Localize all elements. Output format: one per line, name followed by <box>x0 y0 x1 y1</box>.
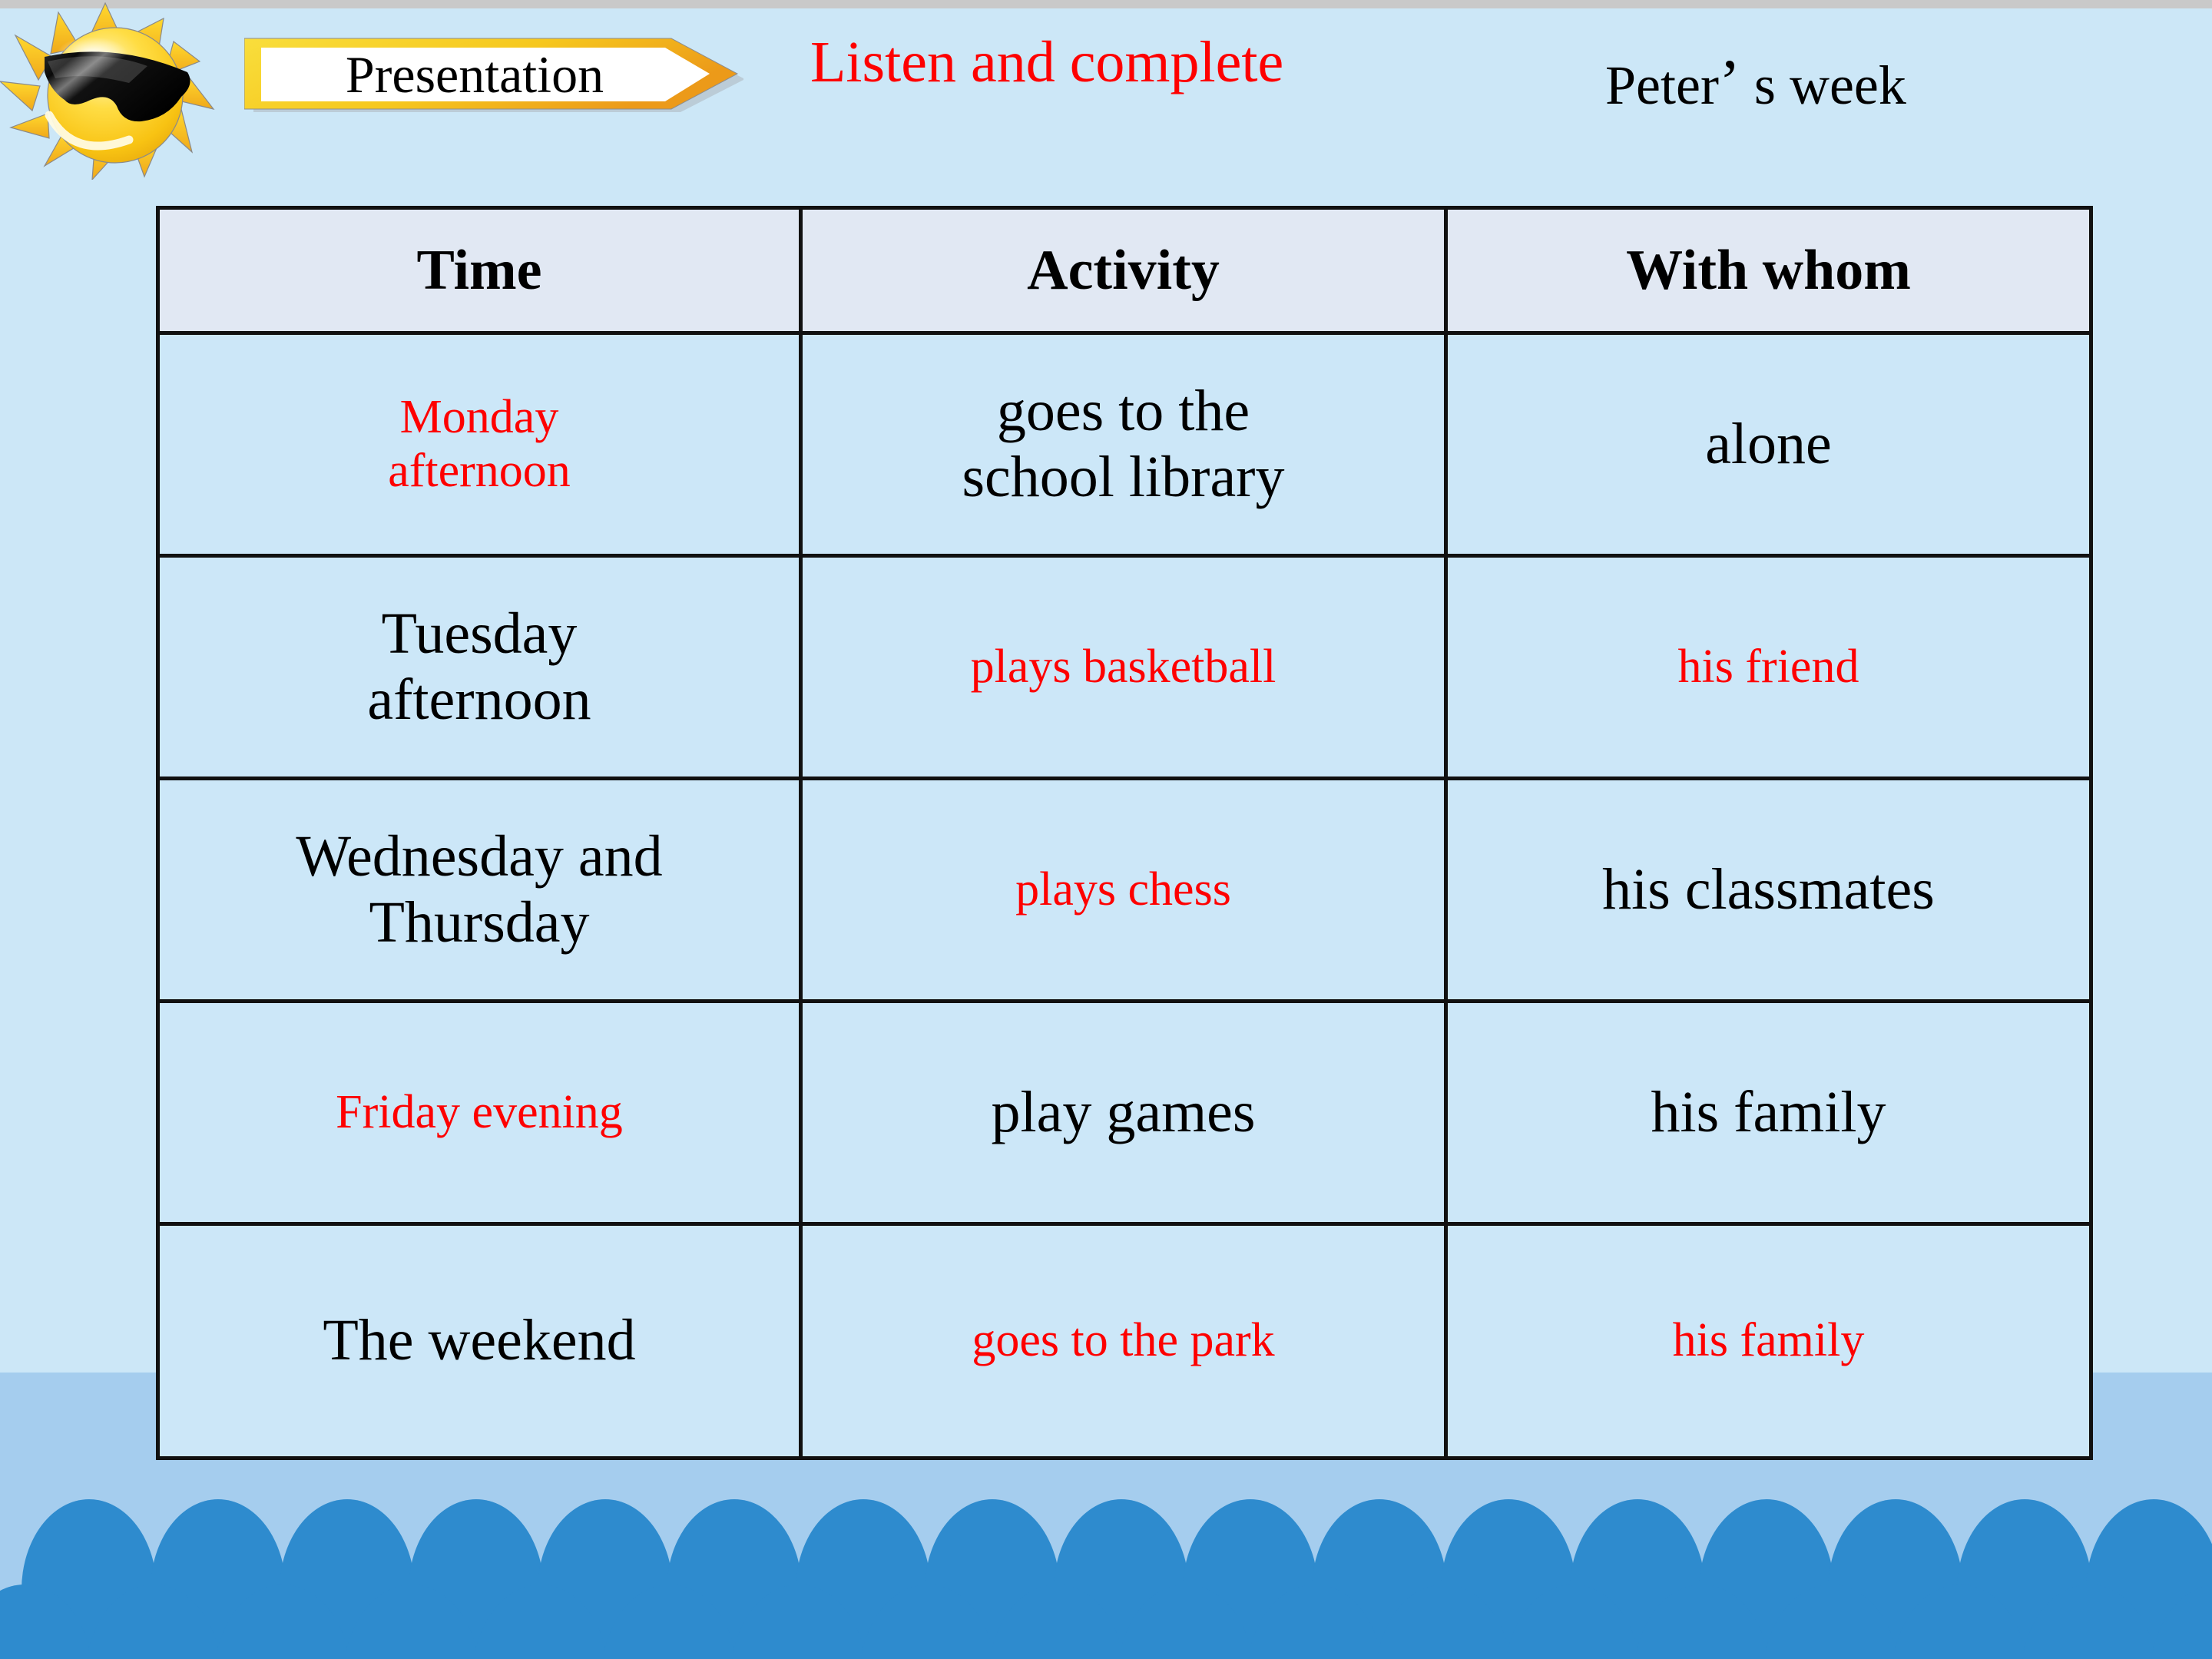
cell-text: his friend <box>1455 641 2081 694</box>
table-header-row: Time Activity With whom <box>158 208 2091 333</box>
cell-with-whom: alone <box>1446 333 2091 556</box>
arch-shape <box>1634 1584 1770 1659</box>
cell-activity: plays chess <box>801 779 1446 1002</box>
cell-with-whom: his friend <box>1446 556 2091 779</box>
column-header-activity: Activity <box>801 208 1446 333</box>
cell-activity: goes to the park <box>801 1224 1446 1459</box>
arch-shape <box>1247 1584 1382 1659</box>
cell-time: Mondayafternoon <box>158 333 801 556</box>
cell-time: Friday evening <box>158 1002 801 1224</box>
cell-text: The weekend <box>167 1308 791 1373</box>
cell-with-whom: his family <box>1446 1224 2091 1459</box>
arch-decoration-row-front <box>0 1584 2212 1659</box>
stage-label: Presentation <box>244 37 705 112</box>
arch-shape <box>1118 1584 1253 1659</box>
arch-shape <box>215 1584 350 1659</box>
arch-shape <box>2022 1584 2157 1659</box>
arch-shape <box>731 1584 866 1659</box>
cell-text: Wednesday andThursday <box>167 824 791 955</box>
cell-text: his classmates <box>1455 857 2081 922</box>
table-row: Tuesdayafternoonplays basketballhis frie… <box>158 556 2091 779</box>
table-row: Friday eveningplay gameshis family <box>158 1002 2091 1224</box>
arch-shape <box>2151 1584 2212 1659</box>
arch-shape <box>1505 1584 1641 1659</box>
cell-with-whom: his family <box>1446 1002 2091 1224</box>
slide-canvas: Presentation Listen and complete Peter’ … <box>0 0 2212 1659</box>
table-row: The weekendgoes to the parkhis family <box>158 1224 2091 1459</box>
cell-text: plays basketball <box>810 641 1436 694</box>
arch-shape <box>1892 1584 2028 1659</box>
cell-with-whom: his classmates <box>1446 779 2091 1002</box>
title-apostrophe: ’ <box>1719 47 1740 118</box>
sun-with-sunglasses-icon <box>0 2 247 180</box>
arch-shape <box>860 1584 995 1659</box>
cell-text: goes to theschool library <box>810 379 1436 509</box>
cell-text: play games <box>810 1080 1436 1145</box>
page-title: Peter’ s week <box>1605 54 1906 118</box>
cell-activity: play games <box>801 1002 1446 1224</box>
arch-shape <box>0 1584 92 1659</box>
cell-text: Tuesdayafternoon <box>167 601 791 732</box>
top-edge-strip <box>0 0 2212 8</box>
cell-time: The weekend <box>158 1224 801 1459</box>
title-name: Peter <box>1605 55 1719 116</box>
arch-shape <box>344 1584 479 1659</box>
cell-text: his family <box>1455 1080 2081 1145</box>
cell-text: his family <box>1455 1314 2081 1367</box>
cell-text: alone <box>1455 412 2081 477</box>
arch-shape <box>1763 1584 1899 1659</box>
cell-text: Friday evening <box>167 1086 791 1139</box>
cell-text: Mondayafternoon <box>167 391 791 498</box>
arch-shape <box>86 1584 221 1659</box>
title-rest: s week <box>1740 55 1906 116</box>
column-header-with-whom: With whom <box>1446 208 2091 333</box>
arch-shape <box>602 1584 737 1659</box>
cell-time: Wednesday andThursday <box>158 779 801 1002</box>
cell-time: Tuesdayafternoon <box>158 556 801 779</box>
table-row: Mondayafternoongoes to theschool library… <box>158 333 2091 556</box>
column-header-time: Time <box>158 208 801 333</box>
instruction-text: Listen and complete <box>810 29 1283 96</box>
cell-activity: plays basketball <box>801 556 1446 779</box>
arch-shape <box>989 1584 1124 1659</box>
peters-week-table: Time Activity With whom Mondayafternoong… <box>156 206 2093 1460</box>
arch-shape <box>473 1584 608 1659</box>
cell-text: goes to the park <box>810 1314 1436 1367</box>
arch-shape <box>1376 1584 1512 1659</box>
table-row: Wednesday andThursdayplays chesshis clas… <box>158 779 2091 1002</box>
cell-text: plays chess <box>810 863 1436 916</box>
cell-activity: goes to theschool library <box>801 333 1446 556</box>
arrow-banner-icon: Presentation <box>244 37 743 112</box>
